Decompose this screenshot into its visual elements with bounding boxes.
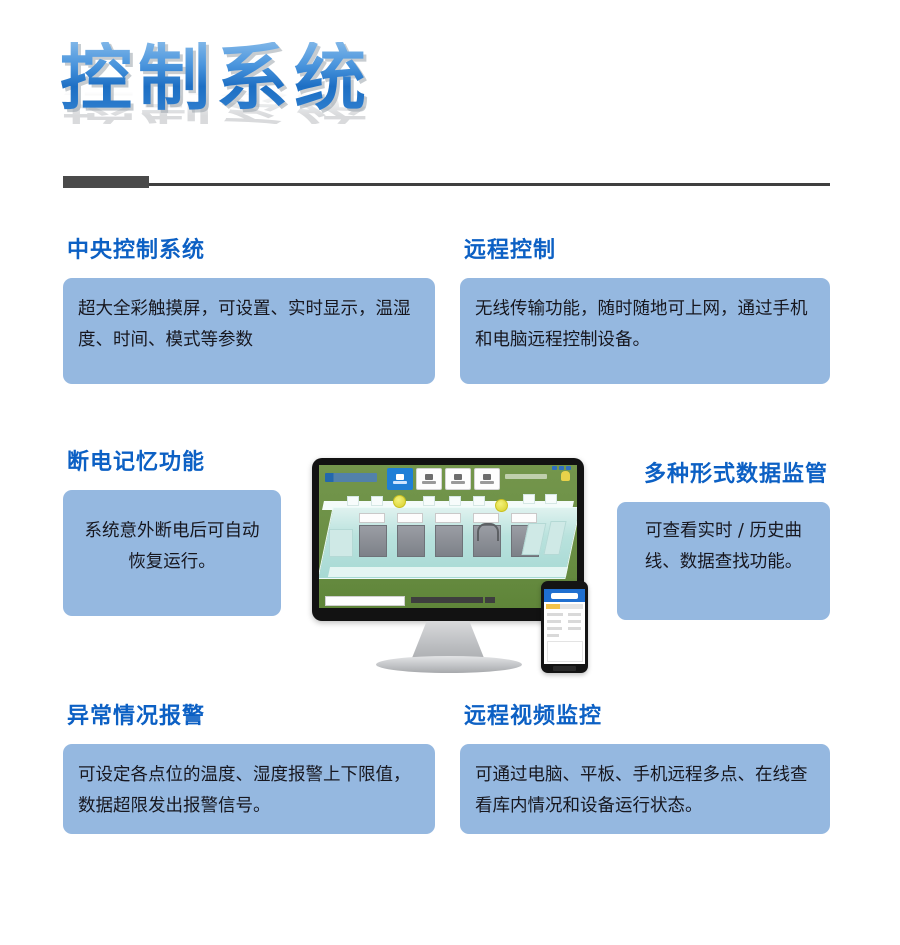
close-icon[interactable] (566, 466, 571, 470)
user-icon (425, 474, 433, 480)
feature-title: 异常情况报警 (67, 698, 435, 730)
duct-unit (473, 496, 485, 506)
warehouse-floorplan (319, 493, 577, 588)
divider-thin-line (63, 183, 830, 186)
status-strip (485, 597, 495, 603)
list-item (547, 634, 559, 637)
divider-thick-block (63, 176, 149, 188)
toolbar-tile-group (387, 468, 500, 490)
duct-unit (545, 494, 557, 504)
list-item (547, 613, 563, 616)
feature-title: 断电记忆功能 (67, 444, 281, 476)
feature-central-control-system: 中央控制系统 超大全彩触摸屏，可设置、实时显示，温湿度、时间、模式等参数 (63, 232, 435, 384)
feature-body: 可设定各点位的温度、湿度报警上下限值，数据超限发出报警信号。 (63, 744, 435, 834)
toolbar-tile-2[interactable] (416, 468, 442, 490)
toolbar-tile-3[interactable] (445, 468, 471, 490)
page-title: 控制系统 控制系统 控制系统 (60, 42, 480, 162)
screen-statusbar (319, 596, 577, 605)
phone-app-header (544, 589, 585, 602)
feature-title: 远程控制 (464, 232, 830, 264)
status-input-field[interactable] (325, 596, 405, 606)
status-text (505, 474, 547, 479)
feature-body: 超大全彩触摸屏，可设置、实时显示，温湿度、时间、模式等参数 (63, 278, 435, 384)
feature-remote-video-monitoring: 远程视频监控 可通过电脑、平板、手机远程多点、在线查看库内情况和设备运行状态。 (460, 698, 830, 834)
toolbar-tile-4[interactable] (474, 468, 500, 490)
window-controls[interactable] (552, 466, 571, 470)
tile-label (393, 481, 407, 484)
phone-home-indicator (553, 666, 576, 671)
feature-body: 可查看实时 / 历史曲线、数据查找功能。 (617, 502, 830, 620)
duct-unit (347, 496, 359, 506)
tile-label (451, 481, 465, 484)
chart-icon (454, 474, 462, 480)
equipment-label (473, 513, 499, 523)
phone-screen (544, 589, 585, 664)
equipment-label (435, 513, 461, 523)
gear-icon (483, 474, 491, 480)
bell-icon[interactable] (561, 471, 570, 481)
storage-rack (329, 529, 353, 557)
equipment-label (511, 513, 537, 523)
equipment-unit[interactable] (397, 525, 425, 557)
maximize-icon[interactable] (559, 466, 564, 470)
equipment-unit[interactable] (359, 525, 387, 557)
duct-unit (371, 496, 383, 506)
monitor-stand-base (376, 656, 522, 673)
equipment-label (359, 513, 385, 523)
feature-body: 无线传输功能，随时随地可上网，通过手机和电脑远程控制设备。 (460, 278, 830, 384)
sensor-marker-icon[interactable] (495, 499, 508, 512)
list-item-value (568, 627, 581, 630)
monitor-screen (319, 465, 577, 608)
monitor-icon (396, 474, 404, 480)
poster-page: 控制系统 控制系统 控制系统 中央控制系统 超大全彩触摸屏，可设置、实时显示，温… (0, 0, 900, 945)
title-divider (63, 176, 830, 188)
status-strip (411, 597, 483, 603)
phone-tab-bar[interactable] (546, 604, 583, 609)
page-title-text: 控制系统 (60, 42, 480, 114)
feature-body: 系统意外断电后可自动恢复运行。 (63, 490, 281, 616)
feature-title: 中央控制系统 (67, 232, 435, 264)
equipment-label (397, 513, 423, 523)
smartphone (541, 581, 588, 673)
equipment-unit[interactable] (435, 525, 463, 557)
floorplan-front-wall (328, 567, 568, 577)
feature-abnormal-condition-alarm: 异常情况报警 可设定各点位的温度、湿度报警上下限值，数据超限发出报警信号。 (63, 698, 435, 834)
pipe-shape (477, 523, 499, 541)
sensor-marker-icon[interactable] (393, 495, 406, 508)
device-illustration (312, 458, 588, 673)
company-logo (325, 473, 377, 482)
list-item (547, 620, 561, 623)
list-item-value (568, 613, 581, 616)
tile-label (422, 481, 436, 484)
feature-title: 多种形式数据监管 (617, 456, 828, 488)
list-item-value (568, 620, 581, 623)
duct-unit (523, 494, 535, 504)
minimize-icon[interactable] (552, 466, 557, 470)
feature-power-failure-memory: 断电记忆功能 系统意外断电后可自动恢复运行。 (63, 444, 281, 616)
duct-unit (423, 496, 435, 506)
phone-content-panel (547, 641, 583, 662)
list-item (547, 627, 562, 630)
screen-toolbar (319, 465, 577, 491)
toolbar-tile-1[interactable] (387, 468, 413, 490)
feature-remote-control: 远程控制 无线传输功能，随时随地可上网，通过手机和电脑远程控制设备。 (460, 232, 830, 384)
feature-title: 远程视频监控 (464, 698, 830, 730)
tile-label (480, 481, 494, 484)
duct-unit (449, 496, 461, 506)
feature-multi-form-data-supervision: 多种形式数据监管 可查看实时 / 历史曲线、数据查找功能。 (617, 456, 830, 620)
search-input[interactable] (551, 593, 578, 599)
feature-body: 可通过电脑、平板、手机远程多点、在线查看库内情况和设备运行状态。 (460, 744, 830, 834)
